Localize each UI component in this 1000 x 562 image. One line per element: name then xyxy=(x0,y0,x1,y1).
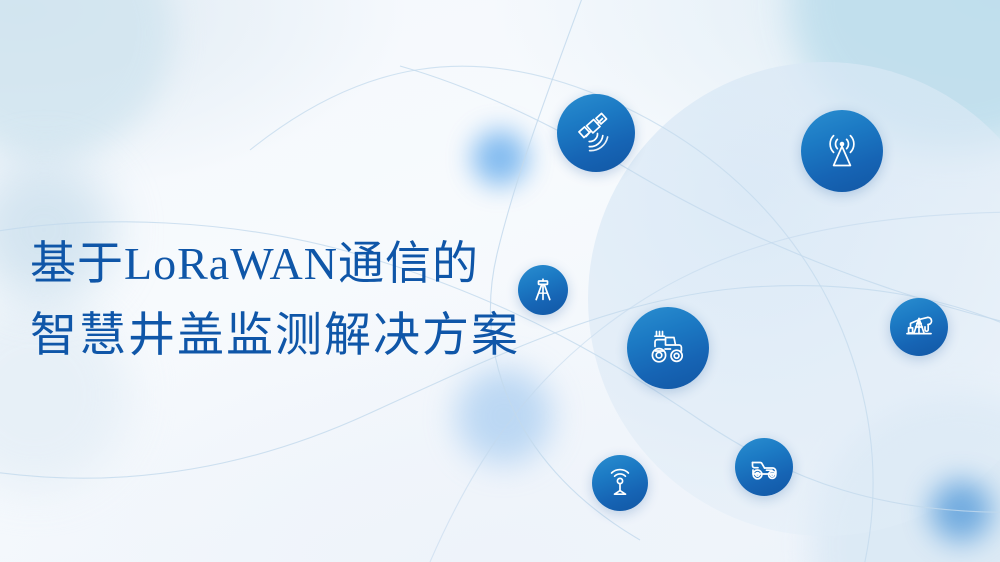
node-wireless-sensor[interactable] xyxy=(592,455,648,511)
background-blob-bottom-right-wash xyxy=(810,395,1000,562)
satellite-signal-icon xyxy=(573,110,619,156)
node-tractor[interactable] xyxy=(627,307,709,389)
title-block: 基于LoRaWAN通信的 智慧井盖监测解决方案 xyxy=(30,228,570,372)
background-dot-upper-mid xyxy=(472,130,528,186)
node-harvester[interactable] xyxy=(735,438,793,496)
background-dot-lower-right xyxy=(930,480,992,542)
node-radio-tower[interactable] xyxy=(801,110,883,192)
oil-pumpjack-icon xyxy=(901,309,937,345)
page-title-line-2: 智慧井盖监测解决方案 xyxy=(30,300,570,372)
radio-tower-icon xyxy=(818,127,866,175)
survey-tripod-icon xyxy=(528,275,558,305)
background-globe xyxy=(588,62,1000,536)
node-survey-tripod[interactable] xyxy=(518,265,568,315)
background-blob-top-left xyxy=(0,0,172,158)
slide-canvas: 基于LoRaWAN通信的 智慧井盖监测解决方案 xyxy=(0,0,1000,562)
node-oil-pumpjack[interactable] xyxy=(890,298,948,356)
page-title-line-1: 基于LoRaWAN通信的 xyxy=(30,228,570,300)
node-satellite[interactable] xyxy=(557,94,635,172)
harvester-icon xyxy=(746,449,782,485)
tractor-icon xyxy=(643,323,693,373)
wireless-sensor-icon xyxy=(603,466,637,500)
background-dot-lower-left xyxy=(456,368,552,464)
